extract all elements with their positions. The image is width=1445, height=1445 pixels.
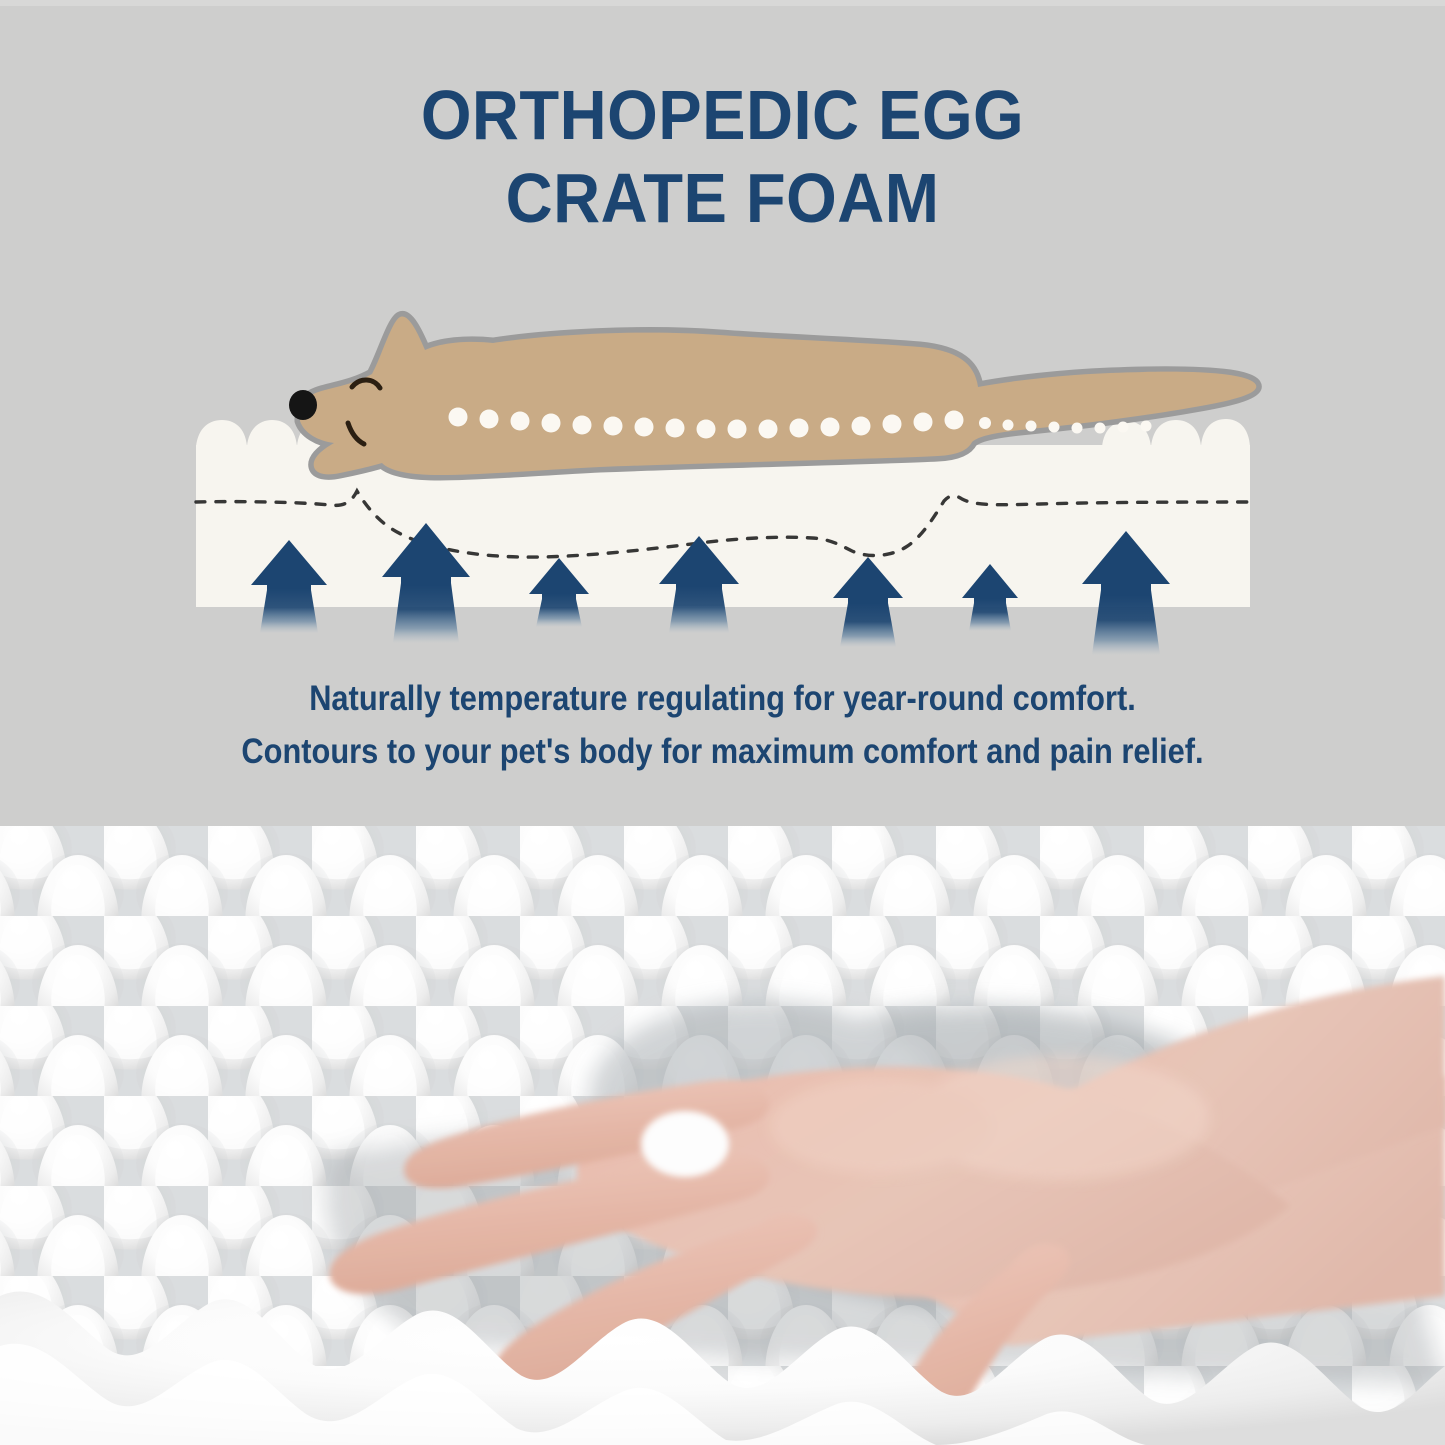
title-line-1: ORTHOPEDIC EGG: [51, 74, 1395, 157]
foam-photo: [0, 826, 1445, 1445]
page-title: ORTHOPEDIC EGG CRATE FOAM: [0, 74, 1445, 240]
caption-block: Naturally temperature regulating for yea…: [0, 672, 1445, 778]
top-edge-highlight: [0, 0, 1445, 6]
caption-line-2: Contours to your pet's body for maximum …: [87, 725, 1359, 778]
dog-on-foam-illustration: [0, 295, 1445, 665]
title-line-2: CRATE FOAM: [51, 157, 1395, 240]
infographic-page: ORTHOPEDIC EGG CRATE FOAM: [0, 0, 1445, 1445]
top-info-panel: ORTHOPEDIC EGG CRATE FOAM: [0, 0, 1445, 826]
dog-nose: [289, 390, 317, 420]
caption-line-1: Naturally temperature regulating for yea…: [87, 672, 1359, 725]
